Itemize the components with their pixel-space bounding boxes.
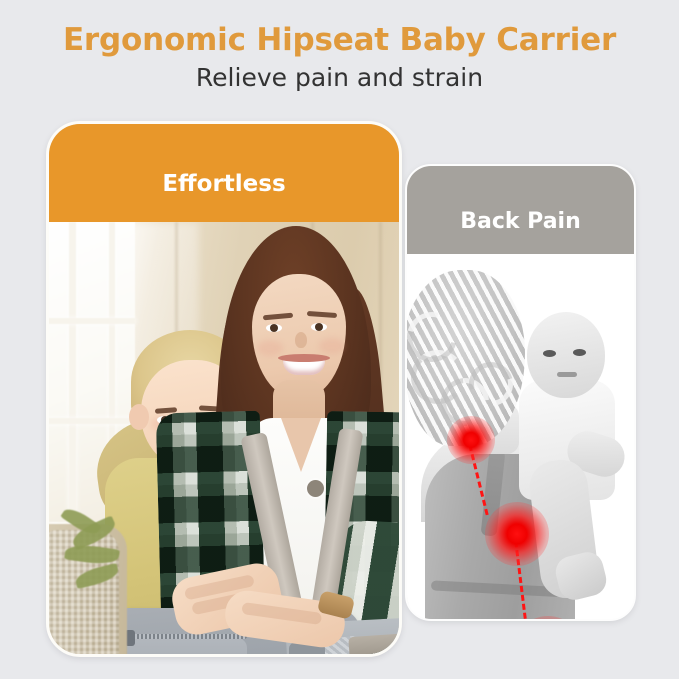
strap-buckle (307, 480, 324, 497)
card-right-header: Back Pain (407, 166, 634, 254)
effortless-photo (49, 222, 399, 657)
photo-scene-right (407, 254, 634, 621)
page-subtitle: Relieve pain and strain (0, 63, 679, 92)
back-pain-photo (407, 254, 634, 621)
card-right-header-label: Back Pain (460, 209, 581, 234)
photo-scene-left (49, 222, 399, 657)
promo-banner: Ergonomic Hipseat Baby Carrier Relieve p… (0, 0, 679, 679)
mother-eye-left (266, 324, 282, 332)
mother-eye-right (311, 323, 327, 331)
zipper (129, 634, 247, 639)
baby-ear (129, 404, 149, 430)
baby-head-bw (527, 312, 605, 398)
plant (49, 510, 133, 657)
card-left-header: Effortless (49, 124, 399, 222)
pain-point-neck (447, 416, 495, 464)
card-left-header-label: Effortless (162, 171, 285, 197)
baby-eye-left-bw (543, 350, 556, 357)
baby-eye-right-bw (573, 349, 586, 356)
card-effortless[interactable]: Effortless (46, 121, 402, 657)
card-back-pain[interactable]: Back Pain (405, 164, 636, 621)
pain-point-mid-back (485, 502, 549, 566)
mother-smile (283, 358, 325, 375)
page-title: Ergonomic Hipseat Baby Carrier (0, 22, 679, 58)
